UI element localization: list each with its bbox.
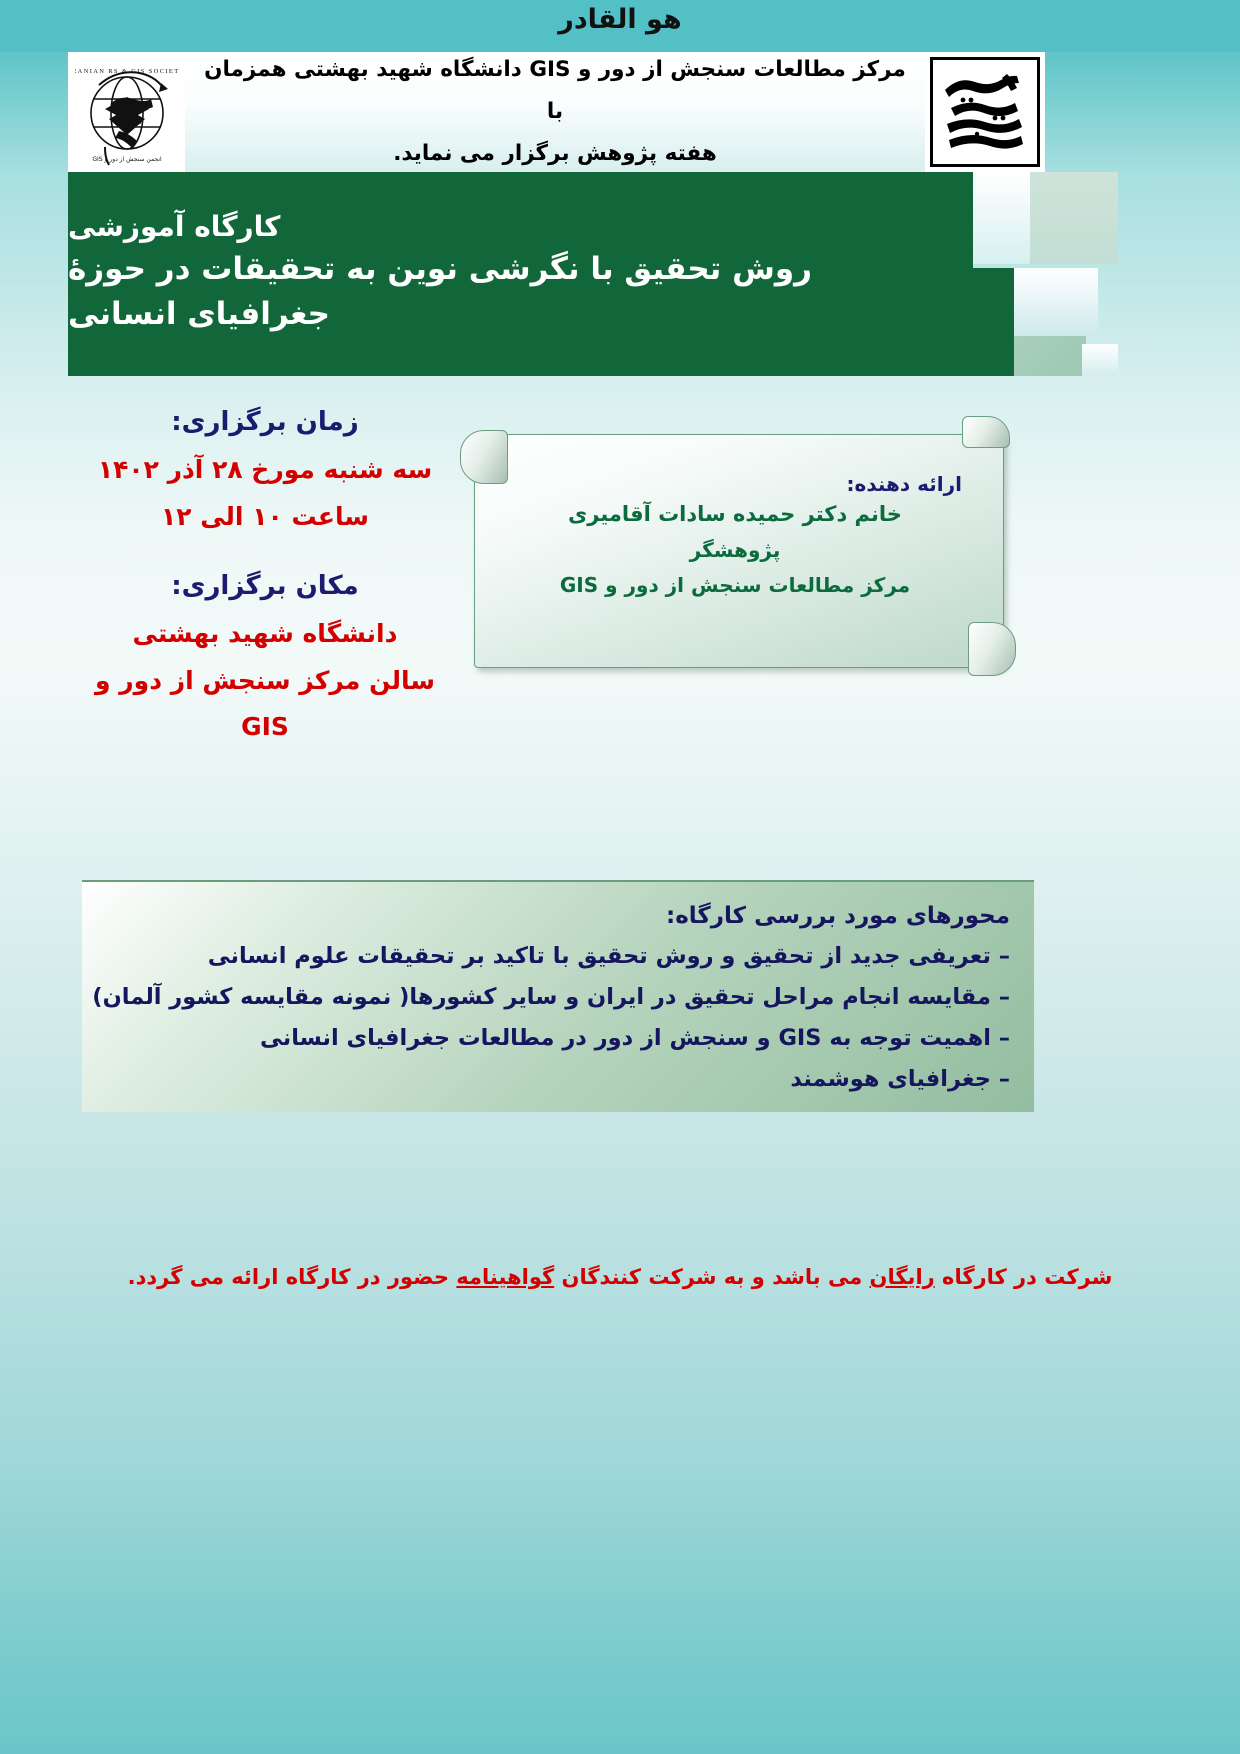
svg-text:IRANIAN RS & GIS SOCIETY: IRANIAN RS & GIS SOCIETY bbox=[75, 68, 179, 75]
workshop-title-block: کارگاه آموزشی روش تحقیق با نگرشی نوین به… bbox=[68, 172, 1118, 372]
place-label: مکان برگزاری: bbox=[70, 562, 460, 611]
header-line-2: هفته پژوهش برگزار می نماید. bbox=[199, 133, 911, 175]
workshop-topics-panel: محورهای مورد بررسی کارگاه: – تعریفی جدید… bbox=[82, 880, 1034, 1112]
presenter-scroll-panel: ارائه دهنده: خانم دکتر حمیده سادات آقامی… bbox=[452, 420, 1022, 682]
presenter-organization: مرکز مطالعات سنجش از دور و GIS bbox=[508, 568, 962, 603]
topic-item: – تعریفی جدید از تحقیق و روش تحقیق با تا… bbox=[106, 936, 1010, 977]
footer-part-2: می باشد و به شرکت کنندگان bbox=[554, 1265, 869, 1289]
topic-item: – اهمیت توجه به GIS و سنجش از دور در مطا… bbox=[106, 1018, 1010, 1059]
decor-square-6 bbox=[1014, 336, 1086, 376]
topics-title: محورهای مورد بررسی کارگاه: bbox=[106, 896, 1010, 936]
globe-logo-icon: IRANIAN RS & GIS SOCIETY انجمن سنجش از د… bbox=[75, 57, 179, 167]
presenter-label: ارائه دهنده: bbox=[508, 472, 962, 496]
footer-underline-certificate: گواهینامه bbox=[456, 1265, 554, 1289]
svg-text:انجمن سنجش از دور و GIS: انجمن سنجش از دور و GIS bbox=[92, 156, 162, 163]
workshop-title-line-2: جغرافیای انسانی bbox=[68, 292, 330, 337]
event-date: سه شنبه مورخ ۲۸ آذر ۱۴۰۲ bbox=[70, 447, 460, 493]
basmala-text: هو القادر bbox=[0, 4, 1240, 35]
event-hours: ساعت ۱۰ الی ۱۲ bbox=[70, 494, 460, 540]
spacer bbox=[70, 540, 460, 562]
footer-note: شرکت در کارگاه رایگان می باشد و به شرکت … bbox=[0, 1265, 1240, 1289]
iranian-rs-gis-society-logo: IRANIAN RS & GIS SOCIETY انجمن سنجش از د… bbox=[68, 52, 185, 172]
scroll-curl-top-right bbox=[962, 416, 1010, 448]
presenter-info: ارائه دهنده: خانم دکتر حمیده سادات آقامی… bbox=[474, 434, 1002, 666]
footer-part-1: شرکت در کارگاه bbox=[935, 1265, 1113, 1289]
workshop-title-line-1: روش تحقیق با نگرشی نوین به تحقیقات در حو… bbox=[68, 247, 812, 292]
footer-underline-free: رایگان bbox=[870, 1265, 935, 1289]
schedule-and-venue-block: زمان برگزاری: سه شنبه مورخ ۲۸ آذر ۱۴۰۲ س… bbox=[70, 398, 460, 750]
logo-frame bbox=[930, 57, 1040, 167]
decor-square-7 bbox=[1082, 344, 1118, 376]
topic-item: – جغرافیای هوشمند bbox=[106, 1059, 1010, 1100]
workshop-title-text: کارگاه آموزشی روش تحقیق با نگرشی نوین به… bbox=[68, 172, 973, 372]
footer-part-3: حضور در کارگاه ارائه می گردد. bbox=[128, 1265, 457, 1289]
header-announcement-band: مرکز مطالعات سنجش از دور و GIS دانشگاه ش… bbox=[185, 52, 925, 172]
time-label: زمان برگزاری: bbox=[70, 398, 460, 447]
header-announcement-text: مرکز مطالعات سنجش از دور و GIS دانشگاه ش… bbox=[199, 49, 911, 175]
decor-square-3 bbox=[1030, 172, 1118, 264]
venue-line-2: سالن مرکز سنجش از دور و GIS bbox=[70, 658, 460, 751]
decor-square-5 bbox=[1014, 268, 1098, 334]
calligraphy-icon bbox=[937, 64, 1033, 160]
shahid-beheshti-university-logo bbox=[925, 52, 1045, 172]
workshop-kicker: کارگاه آموزشی bbox=[68, 207, 280, 246]
venue-line-1: دانشگاه شهید بهشتی bbox=[70, 611, 460, 657]
header-line-1: مرکز مطالعات سنجش از دور و GIS دانشگاه ش… bbox=[199, 49, 911, 133]
presenter-role: پژوهشگر bbox=[508, 533, 962, 568]
topic-item: – مقایسه انجام مراحل تحقیق در ایران و سا… bbox=[106, 977, 1010, 1018]
presenter-name: خانم دکتر حمیده سادات آقامیری bbox=[508, 496, 962, 533]
